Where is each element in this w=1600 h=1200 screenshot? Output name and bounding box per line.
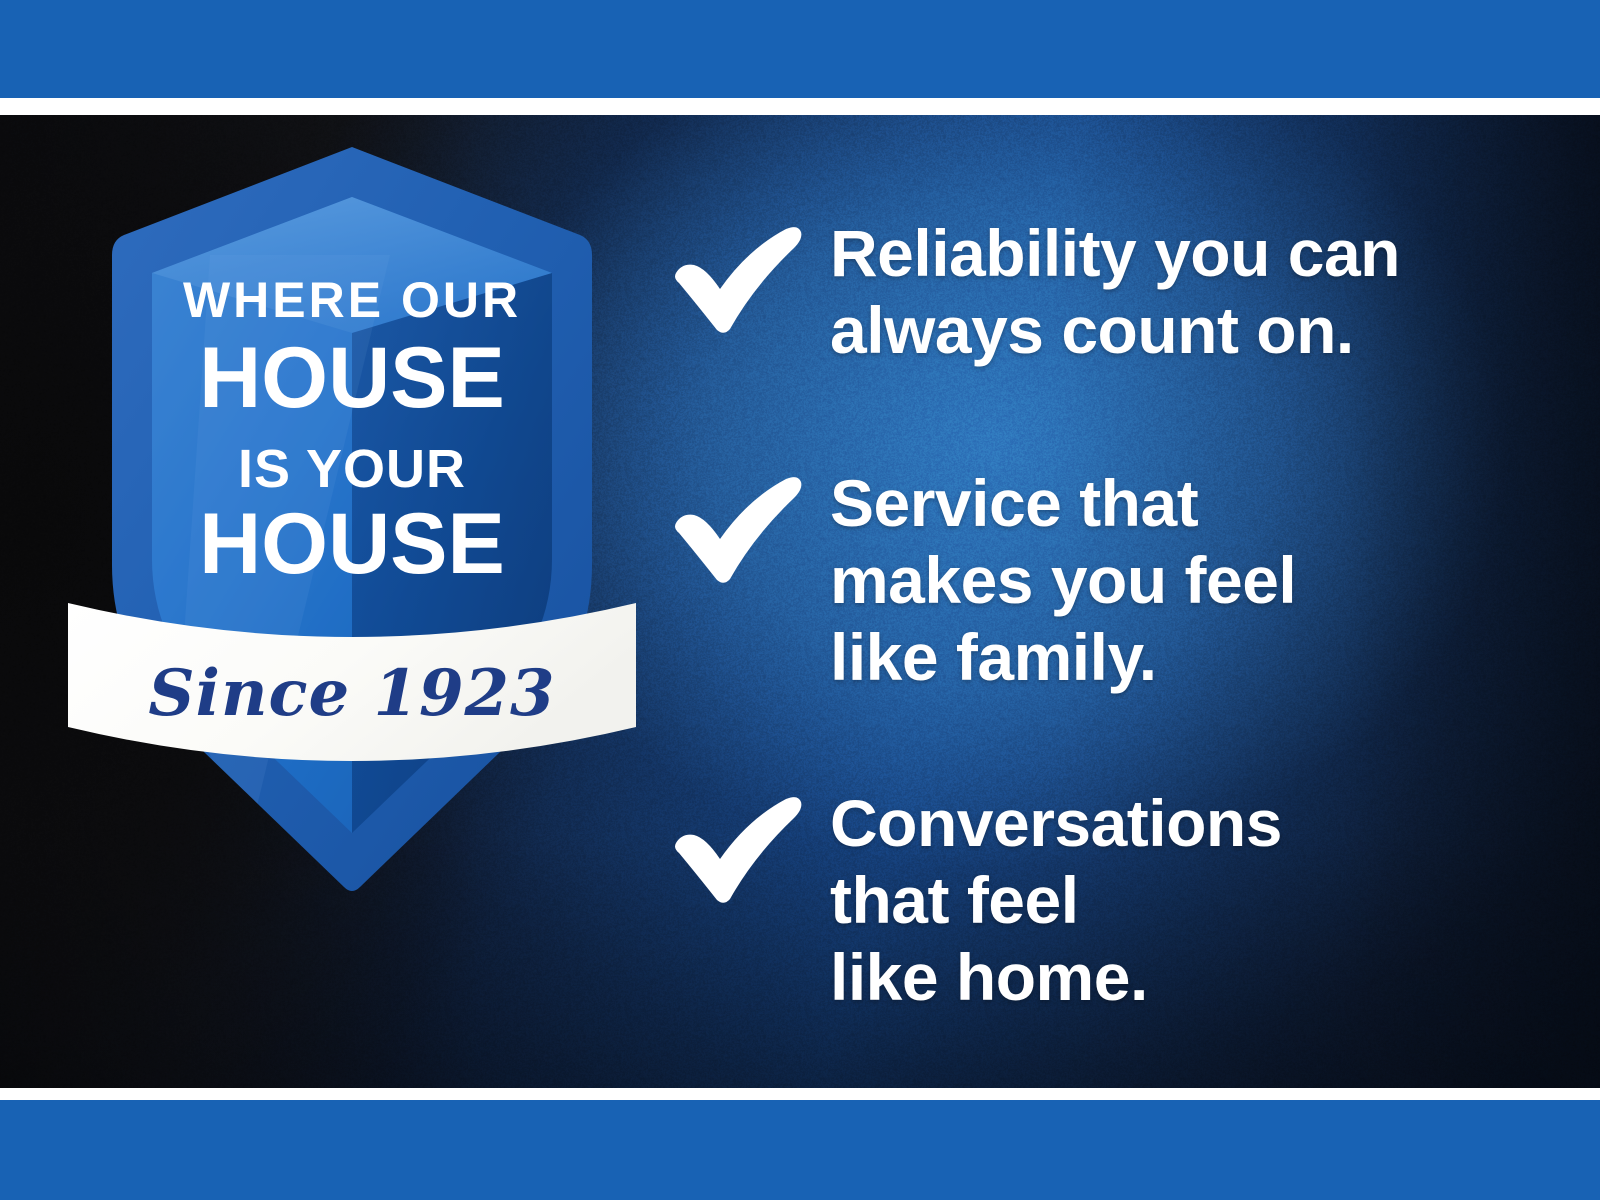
bottom-brand-bar [0,1100,1600,1200]
badge-line-2: IS YOUR [238,439,466,499]
promo-graphic-canvas: WHERE OUR HOUSE IS YOUR HOUSE Since 1923… [0,0,1600,1200]
checkmark-icon [668,215,808,335]
benefit-text: Service that makes you feel like family. [830,465,1296,697]
benefit-text: Reliability you can always count on. [830,215,1400,369]
shield-badge: WHERE OUR HOUSE IS YOUR HOUSE Since 1923 [60,135,640,835]
benefit-item: Reliability you can always count on. [668,215,1400,369]
benefit-item: Service that makes you feel like family. [668,465,1296,697]
top-brand-bar [0,0,1600,98]
benefit-text: Conversations that feel like home. [830,785,1282,1017]
benefit-item: Conversations that feel like home. [668,785,1282,1017]
badge-line-3: HOUSE [199,496,505,592]
checkmark-icon [668,465,808,585]
badge-line-0: WHERE OUR [183,272,521,328]
badge-line-1: HOUSE [199,330,505,426]
ribbon-text: Since 1923 [148,656,555,731]
checkmark-icon [668,785,808,905]
benefits-list: Reliability you can always count on. Ser… [668,115,1568,1088]
